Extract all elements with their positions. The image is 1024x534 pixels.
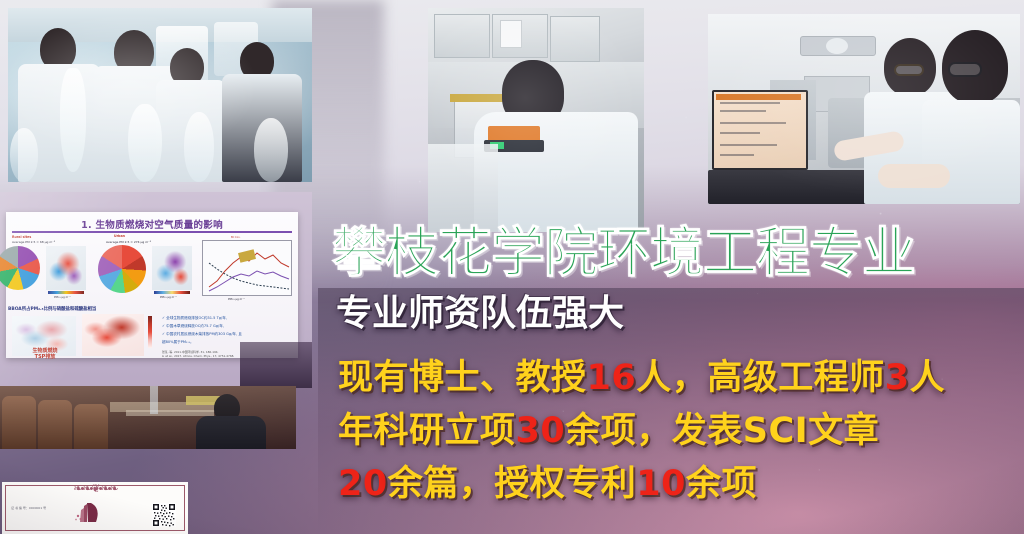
stat-text: 现有博士、教授 [338, 358, 587, 398]
stat-text: 人 [910, 358, 946, 398]
stat-text: 余篇，授权专利 [388, 464, 637, 504]
stat-highlight-number: 10 [636, 464, 686, 504]
certificate-ornament: ❧•❧•❦•❧•❧ [58, 482, 132, 494]
stat-line-2: 20余篇，授权专利10余项 [338, 467, 757, 502]
lecture-hall-photo [0, 386, 296, 449]
stat-text: 人，高级工程师 [636, 358, 885, 398]
researcher-bench-photo [428, 8, 644, 232]
stat-line-0: 现有博士、教授16人，高级工程师3人 [338, 361, 945, 396]
stylized-d-logo-svg [74, 500, 104, 528]
lab-group-photo [8, 8, 312, 182]
stat-text: 余项，发表SCI文章 [565, 411, 879, 451]
presentation-slide-photo: 1. 生物质燃烧对空气质量的影响 Rural sites Average PM … [0, 192, 312, 388]
stylized-d-logo [74, 500, 104, 528]
stat-highlight-number: 16 [587, 358, 637, 398]
page-subtitle: 专业师资队伍强大 [336, 296, 624, 332]
stat-highlight-number: 20 [338, 464, 388, 504]
qr-code-svg [152, 503, 176, 527]
certificate-photo: ❧•❧•❦•❧•❧ 证 书 编 号：0000001 号 [2, 482, 188, 534]
instrument-computer-photo [708, 14, 1020, 204]
certificate-serial: 证 书 编 号：0000001 号 [11, 506, 46, 511]
stat-highlight-number: 3 [885, 358, 910, 398]
qr-code [152, 503, 176, 527]
stat-highlight-number: 30 [516, 411, 566, 451]
stat-line-1: 年科研立项30余项，发表SCI文章 [338, 414, 879, 449]
stat-text: 余项 [686, 464, 757, 504]
poster-canvas: 1. 生物质燃烧对空气质量的影响 Rural sites Average PM … [0, 0, 1024, 534]
stat-text: 年科研立项 [338, 411, 516, 451]
page-title: 攀枝花学院环境工程专业 [332, 226, 1024, 280]
